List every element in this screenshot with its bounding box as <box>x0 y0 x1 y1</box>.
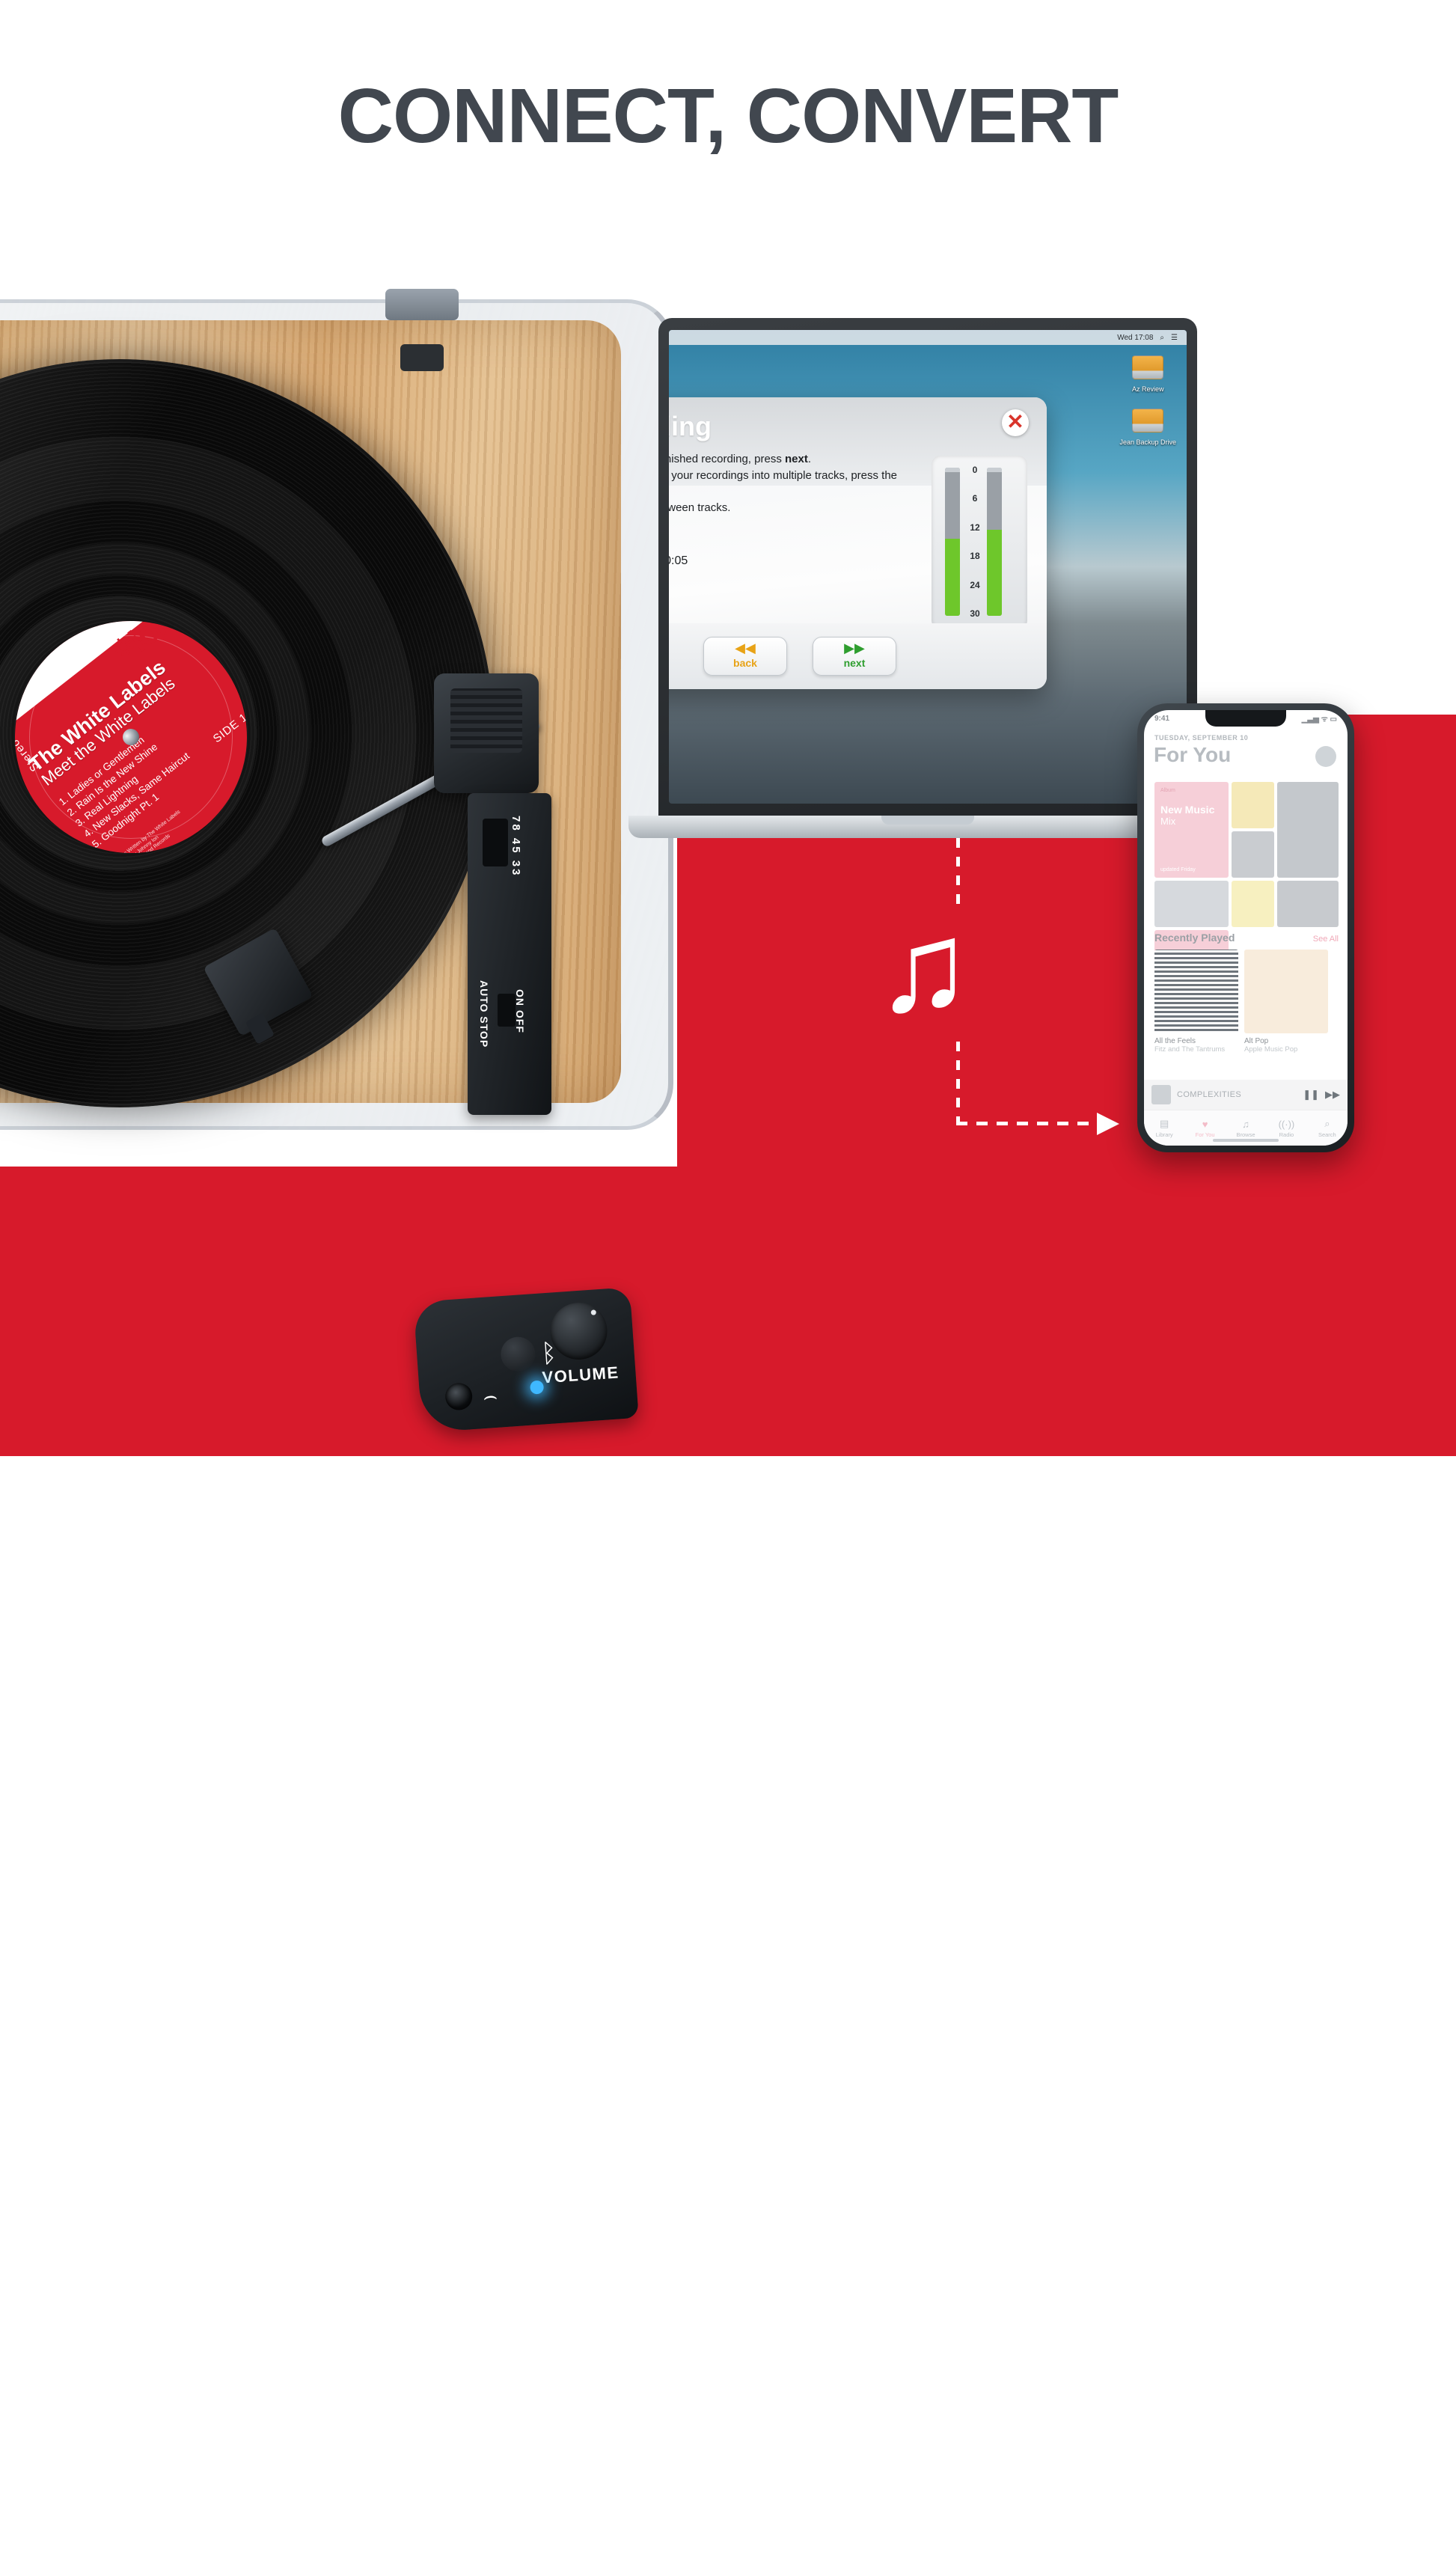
grid-tile[interactable] <box>1154 881 1229 927</box>
desktop-icon-label: Jean Backup Drive <box>1119 438 1176 446</box>
laptop-shell: Wed 17:08 ⌕ ☰ Az Review Jean Backup Driv… <box>658 318 1197 823</box>
desktop-icons: Az Review Jean Backup Drive <box>1119 355 1176 462</box>
see-all-link[interactable]: See All <box>1313 935 1339 944</box>
on-off-switch[interactable] <box>498 994 516 1027</box>
tab-label: Library <box>1156 1131 1173 1138</box>
footer-text-block: HIGH SPEED USB CONNECTIVITY CONVERTS VIN… <box>0 2433 1456 2571</box>
instruction-line3: track button in between tracks. <box>669 501 730 514</box>
scale-tick: 18 <box>964 551 985 561</box>
featured-kicker: Album <box>1160 788 1223 793</box>
dialog-instructions: When you have finished recording, press … <box>669 451 908 516</box>
avatar[interactable] <box>1315 746 1336 767</box>
desktop-icon-az-review[interactable]: Az Review <box>1119 355 1176 395</box>
dashed-line-bottom <box>956 1042 960 1125</box>
laptop-screen: Wed 17:08 ⌕ ☰ Az Review Jean Backup Driv… <box>669 330 1187 804</box>
grid-tile[interactable] <box>1232 831 1274 878</box>
search-icon: ⌕ <box>1307 1118 1348 1130</box>
search-icon[interactable]: ⌕ <box>1160 334 1164 342</box>
vu-meter-fill <box>987 530 1002 616</box>
status-time: 9:41 <box>1154 715 1169 723</box>
album-artwork <box>1154 950 1238 1033</box>
scale-tick: 24 <box>964 580 985 590</box>
drive-icon <box>1132 409 1163 432</box>
dialog-title: Recording <box>669 411 712 442</box>
scale-tick: 30 <box>964 608 985 619</box>
album-card[interactable]: Alt Pop Apple Music Pop <box>1244 950 1328 1054</box>
back-button-label: back <box>704 657 786 669</box>
turntable-product: ✳ion The White Labels Meet the White Lab… <box>0 299 673 1130</box>
scale-tick: 12 <box>964 522 985 533</box>
tab-for-you[interactable]: ♥ For You <box>1184 1119 1225 1138</box>
featured-grid: Album New Music Mix updated Friday ▶ <box>1154 782 1339 976</box>
lid-clip <box>400 344 444 371</box>
volume-knob[interactable] <box>548 1300 609 1361</box>
laptop-notch <box>881 816 974 825</box>
tab-search[interactable]: ⌕ Search <box>1307 1118 1348 1138</box>
vu-meter-scale: 0 6 12 18 24 30 <box>964 465 985 619</box>
next-track-icon[interactable]: ▶▶ <box>1325 1089 1340 1101</box>
arrow-head-icon <box>1097 1113 1119 1135</box>
speed-selector-switch[interactable] <box>483 819 508 866</box>
tab-label: Radio <box>1279 1131 1294 1138</box>
radio-icon: ((·)) <box>1266 1119 1306 1130</box>
auto-stop-label: AUTO STOP <box>478 980 490 1048</box>
phone-screen: 9:41 ▁▃▅ ᯤ ▭ TUESDAY, SEPTEMBER 10 For Y… <box>1144 710 1348 1146</box>
status-indicators-icon: ▁▃▅ ᯤ ▭ <box>1302 713 1337 724</box>
tab-browse[interactable]: ♫ Browse <box>1226 1119 1266 1138</box>
instruction-line2-a: If you want to split your recordings int… <box>669 469 897 482</box>
control-center-icon[interactable]: ☰ <box>1171 334 1178 342</box>
desktop-icon-jean-backup-drive[interactable]: Jean Backup Drive <box>1119 409 1176 448</box>
phone-notch <box>1205 710 1286 727</box>
scale-tick: 0 <box>964 465 985 475</box>
transfer-flow-graphic: ♫ <box>868 838 1182 1137</box>
footer-subhead: CONVERTS VINYL RECORDS INTO DIGITAL FILE… <box>0 2523 1456 2571</box>
album-artwork <box>1244 950 1328 1033</box>
grid-tile[interactable] <box>1232 782 1274 828</box>
back-button[interactable]: ◀◀ back <box>703 637 787 676</box>
desktop-icon-label: Az Review <box>1132 385 1164 393</box>
laptop-device: Wed 17:08 ⌕ ☰ Az Review Jean Backup Driv… <box>658 318 1197 864</box>
forward-icon: ▶▶ <box>813 641 896 655</box>
phone-page-title: For You <box>1154 743 1231 767</box>
instruction-line1-c: . <box>808 453 811 465</box>
grid-tile[interactable] <box>1232 881 1274 927</box>
front-control-pod: VOLUME ᛒ ⌢ <box>413 1287 639 1433</box>
bluetooth-led-indicator <box>530 1380 544 1394</box>
album-artist: Apple Music Pop <box>1244 1045 1328 1054</box>
headphone-jack[interactable] <box>444 1382 473 1410</box>
tonearm-base <box>434 673 539 793</box>
featured-updated: updated Friday <box>1160 867 1196 872</box>
menubar-clock: Wed 17:08 <box>1117 334 1153 342</box>
recording-timer: 00:00:05 <box>669 554 688 568</box>
next-button[interactable]: ▶▶ next <box>813 637 896 676</box>
pause-icon[interactable]: ❚❚ <box>1303 1089 1319 1101</box>
turntable-control-strip: 78 45 33 AUTO STOP ON OFF <box>468 793 551 1115</box>
on-off-label: ON OFF <box>514 989 526 1033</box>
tab-label: Search <box>1318 1131 1336 1138</box>
recording-dialog: Recording ✕ When you have finished recor… <box>669 397 1047 689</box>
now-playing-bar[interactable]: COMPLEXITIES ❚❚ ▶▶ <box>1144 1080 1348 1110</box>
tab-label: Browse <box>1237 1131 1255 1138</box>
featured-name: New Music <box>1160 804 1223 816</box>
featured-new-music-mix[interactable]: Album New Music Mix updated Friday <box>1154 782 1229 878</box>
vu-meter-panel: 0 6 12 18 24 30 <box>932 456 1027 629</box>
dialog-footer: ◀◀ back ▶▶ next <box>669 623 1047 689</box>
vu-meter-left <box>945 468 960 616</box>
vu-meter-fill <box>945 539 960 616</box>
macos-menubar: Wed 17:08 ⌕ ☰ <box>669 330 1187 345</box>
heart-icon: ♥ <box>1184 1119 1225 1130</box>
recently-played-title: Recently Played <box>1154 932 1235 944</box>
next-button-label: next <box>813 657 896 669</box>
instruction-next-bold: next <box>785 453 808 465</box>
recently-played-list: All the Feels Fitz and The Tantrums Alt … <box>1154 950 1348 1054</box>
music-note-icon: ♫ <box>875 902 972 1031</box>
grid-tile[interactable] <box>1277 881 1339 927</box>
featured-name-2: Mix <box>1160 816 1223 827</box>
vu-meter-cap <box>945 468 960 472</box>
tab-radio[interactable]: ((·)) Radio <box>1266 1119 1306 1138</box>
drive-icon <box>1132 355 1163 379</box>
phone-date: TUESDAY, SEPTEMBER 10 <box>1154 734 1248 742</box>
speed-label: 78 45 33 <box>510 816 522 877</box>
music-note-icon: ♫ <box>1226 1119 1266 1130</box>
home-indicator <box>1213 1139 1279 1142</box>
lid-hinge <box>385 289 459 320</box>
album-artist: Fitz and The Tantrums <box>1154 1045 1238 1054</box>
tab-library[interactable]: ▤ Library <box>1144 1118 1184 1138</box>
vu-meter-right <box>987 468 1002 616</box>
bluetooth-icon: ᛒ <box>540 1340 557 1366</box>
headphone-icon: ⌢ <box>482 1385 498 1408</box>
recently-played-header: Recently Played See All <box>1154 932 1339 944</box>
dashed-line-horizontal <box>956 1122 1103 1125</box>
library-icon: ▤ <box>1144 1118 1184 1130</box>
footer-headline: HIGH SPEED USB CONNECTIVITY <box>0 2433 1456 2504</box>
smartphone-device: 9:41 ▁▃▅ ᯤ ▭ TUESDAY, SEPTEMBER 10 For Y… <box>1137 703 1354 1152</box>
album-card[interactable]: All the Feels Fitz and The Tantrums <box>1154 950 1238 1054</box>
tab-label: For You <box>1196 1131 1215 1138</box>
bluetooth-button[interactable] <box>500 1336 536 1372</box>
vu-meter-cap <box>987 468 1002 472</box>
instruction-line1-a: When you have finished recording, press <box>669 453 785 465</box>
album-name: Alt Pop <box>1244 1037 1328 1045</box>
red-panel-bottom: HIGH SPEED USB CONNECTIVITY CONVERTS VIN… <box>0 1167 1456 1456</box>
now-playing-track: COMPLEXITIES <box>1177 1090 1297 1099</box>
page-title: CONNECT, CONVERT <box>0 72 1456 160</box>
album-name: All the Feels <box>1154 1037 1238 1045</box>
scale-tick: 6 <box>964 493 985 504</box>
now-playing-artwork <box>1151 1085 1171 1104</box>
grid-tile-portrait[interactable] <box>1277 782 1339 878</box>
rewind-icon: ◀◀ <box>704 641 786 655</box>
close-icon[interactable]: ✕ <box>1002 409 1029 436</box>
